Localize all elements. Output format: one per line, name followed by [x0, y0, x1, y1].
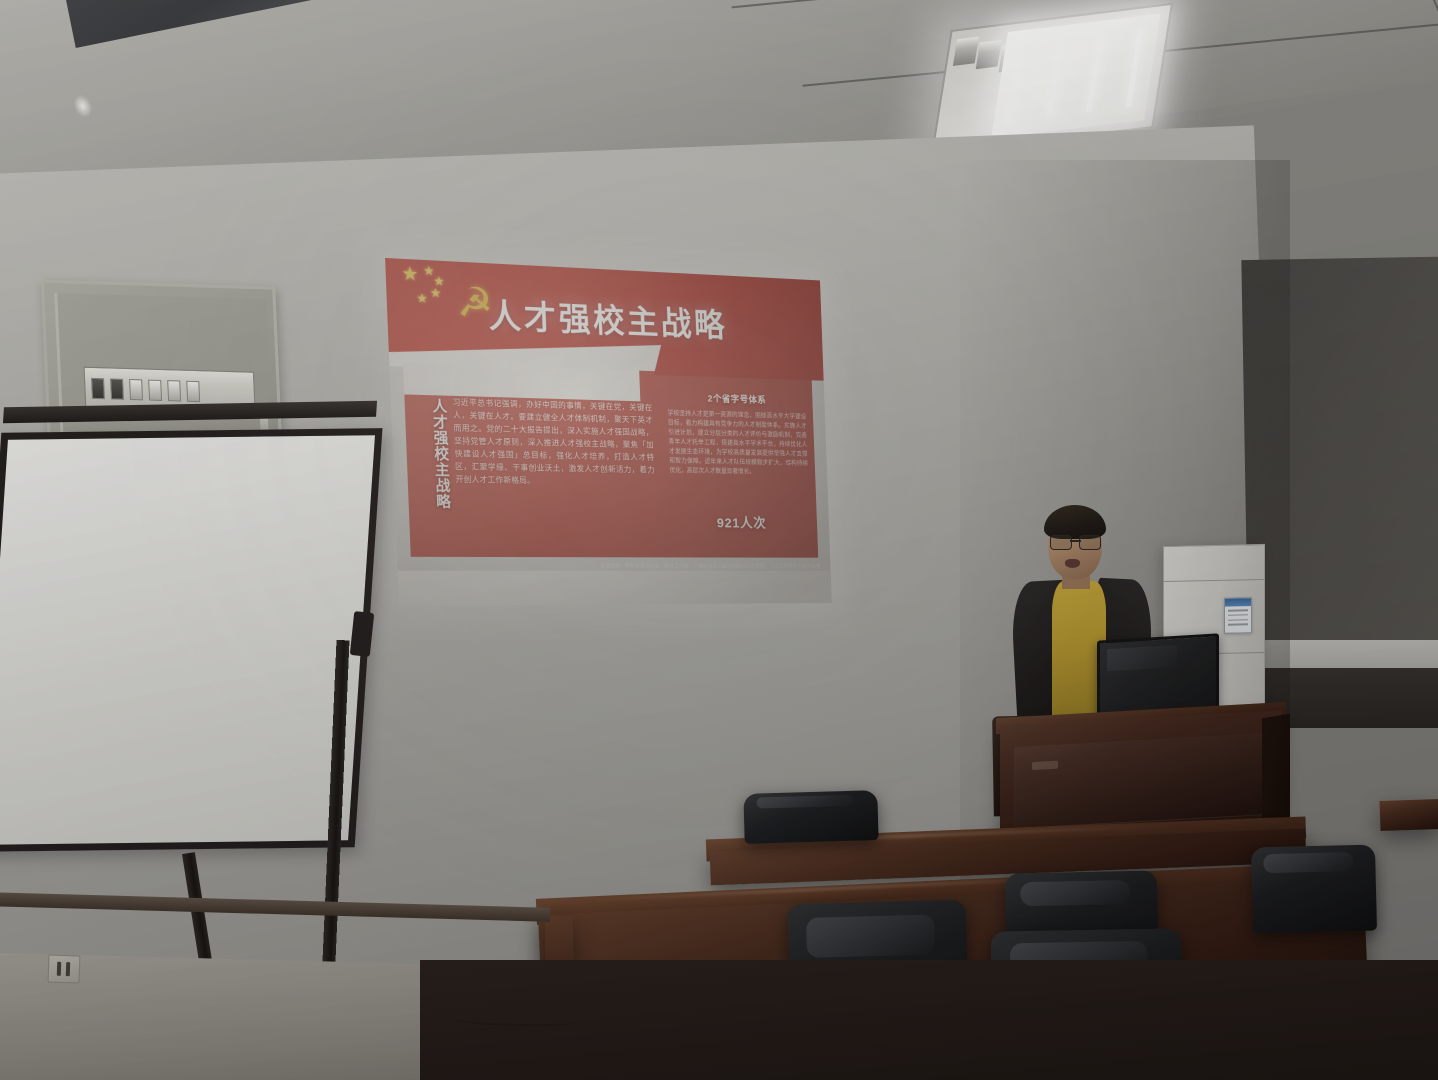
whiteboard-surface[interactable]	[0, 428, 382, 852]
monitor-glare	[1107, 645, 1177, 671]
star-icon: ★	[416, 292, 428, 305]
ceiling-tile-line	[732, 0, 1438, 8]
breaker-switch[interactable]	[149, 380, 163, 401]
podium-badge	[1032, 761, 1058, 770]
star-icon: ★	[430, 286, 442, 299]
slide-footer-band	[398, 571, 832, 606]
star-icon: ★	[401, 265, 419, 285]
room-photo-scene: ★ ★ ★ ★ ★ ☭ 人才强校主战略 人才强校主战略 习近平总书记强调，办好中…	[0, 0, 1438, 1080]
right-column-text: 学校坚持人才是第一资源的理念，围绕高水平大学建设目标，着力构建具有竞争力的人才制…	[667, 409, 809, 495]
whiteboard-assembly[interactable]	[0, 428, 382, 852]
breaker-switch[interactable]	[187, 381, 201, 402]
breaker-switch[interactable]	[168, 380, 182, 401]
ceiling-smudge	[71, 93, 95, 120]
right-column-big-number: 921人次	[683, 512, 799, 532]
ceiling-dark-recess	[52, 0, 429, 48]
cabinet-notice-label	[1224, 597, 1252, 634]
slide-title: 人才强校主战略	[487, 289, 814, 350]
right-column-heading: 2个省字号体系	[678, 390, 794, 407]
ceiling-tile-line	[1351, 0, 1438, 13]
slide-body: 人才强校主战略 习近平总书记强调，办好中国的事情，关键在党，关键在人，关键在人才…	[403, 363, 818, 558]
presenter-mouth	[1065, 559, 1080, 568]
light-diffuser-panel	[991, 13, 1161, 138]
chair-rear-right[interactable]	[1251, 844, 1377, 933]
projected-slide: ★ ★ ★ ★ ★ ☭ 人才强校主战略 人才强校主战略 习近平总书记强调，办好中…	[385, 258, 832, 606]
breaker-switch[interactable]	[91, 378, 105, 399]
slide-body-text: 习近平总书记强调，办好中国的事情，关键在党，关键在人，关键在人才。要建立健全人才…	[452, 395, 658, 550]
slide-header-band: ★ ★ ★ ★ ★ ☭ 人才强校主战略	[385, 258, 824, 381]
power-outlet[interactable]	[48, 954, 81, 983]
chair-rear-left[interactable]	[743, 790, 878, 844]
presenter-hair	[1044, 505, 1106, 539]
slide-right-column: 2个省字号体系 学校坚持人才是第一资源的理念，围绕高水平大学建设目标，着力构建具…	[663, 379, 814, 554]
slide-content: ★ ★ ★ ★ ★ ☭ 人才强校主战略 人才强校主战略 习近平总书记强调，办好中…	[385, 258, 832, 606]
podium-front-panel	[1014, 733, 1266, 829]
breaker-switch[interactable]	[130, 379, 144, 400]
breaker-switch[interactable]	[111, 379, 125, 400]
slide-vertical-sidebar-label: 人才强校主战略	[411, 398, 452, 549]
table-right-edge	[1379, 799, 1438, 831]
glasses-icon	[1050, 535, 1101, 548]
podium-side-panel	[1262, 714, 1290, 828]
